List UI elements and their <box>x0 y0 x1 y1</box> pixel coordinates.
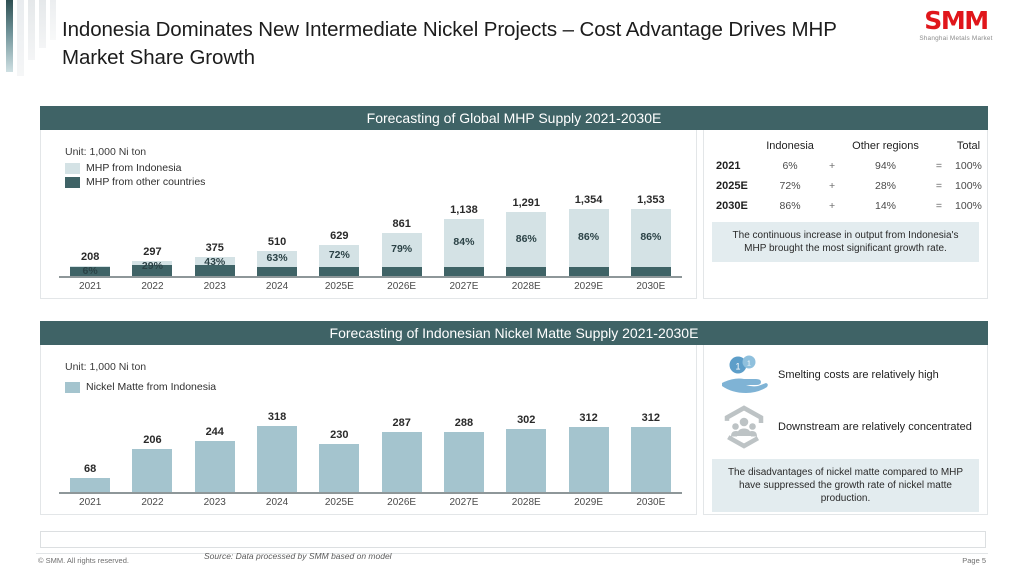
bar-column <box>558 204 620 292</box>
bar <box>132 449 172 492</box>
bar-column <box>121 419 183 508</box>
legend-label-indonesia: MHP from Indonesia <box>86 162 182 174</box>
cell-equals: = <box>928 156 950 176</box>
cell-plus: + <box>821 176 843 196</box>
bar-column <box>246 419 308 508</box>
bar-segment-base <box>506 267 546 276</box>
hexagon-people-icon <box>718 405 770 449</box>
bar-value-label: 1,353 <box>620 194 682 206</box>
svg-text:1: 1 <box>735 362 740 372</box>
bar-segment-base <box>382 432 422 492</box>
bar-column <box>308 204 370 292</box>
cell-indonesia: 86% <box>759 196 821 216</box>
bar-segment-base <box>382 267 422 276</box>
bar-value-label: 375 <box>184 242 246 254</box>
matte-note: The disadvantages of nickel matte compar… <box>712 459 979 512</box>
bar-segment-base <box>319 267 359 276</box>
bar <box>70 478 110 492</box>
cell-total: 100% <box>950 176 987 196</box>
bullet-downstream: Downstream are relatively concentrated <box>704 397 987 449</box>
bar-column <box>433 204 495 292</box>
bar-column <box>495 204 557 292</box>
logo-wordmark: SMM <box>904 8 1008 34</box>
bar-value-label: 287 <box>371 417 433 429</box>
bar-segment-base <box>257 426 297 492</box>
bar-value-label: 318 <box>246 411 308 423</box>
bar <box>506 429 546 492</box>
panel-matte-title: Forecasting of Indonesian Nickel Matte S… <box>40 321 988 345</box>
bar-value-label: 230 <box>308 429 370 441</box>
bar <box>319 444 359 492</box>
cell-other: 14% <box>843 196 928 216</box>
cell-other: 94% <box>843 156 928 176</box>
bar-segment-base <box>506 429 546 492</box>
legend-item-indonesia: MHP from Indonesia <box>65 162 205 174</box>
cell-other: 28% <box>843 176 928 196</box>
cell-plus: + <box>821 196 843 216</box>
bar-value-label: 312 <box>558 412 620 424</box>
bar-value-label: 1,138 <box>433 204 495 216</box>
page-title: Indonesia Dominates New Intermediate Nic… <box>62 16 862 72</box>
bar-segment-base <box>195 441 235 492</box>
col-head-total: Total <box>950 134 987 156</box>
bar-value-label: 302 <box>495 414 557 426</box>
bar-percent-label: 63% <box>257 252 297 264</box>
bar-segment-base <box>569 427 609 492</box>
chart-matte-unit: Unit: 1,000 Ni ton <box>65 361 146 373</box>
bar-value-label: 510 <box>246 236 308 248</box>
bar-segment-base <box>257 267 297 276</box>
cell-total: 100% <box>950 156 987 176</box>
bar-column <box>620 419 682 508</box>
chart-matte-plot-area: 2021682022206202324420243182025E2302026E… <box>59 403 682 508</box>
col-head-other: Other regions <box>843 134 928 156</box>
cell-total: 100% <box>950 196 987 216</box>
bar-segment-base <box>631 267 671 276</box>
panel-matte-supply: Forecasting of Indonesian Nickel Matte S… <box>40 321 988 517</box>
legend-swatch-indonesia <box>65 163 80 174</box>
bar-segment-base <box>444 432 484 492</box>
hand-coins-icon: 1 1 <box>718 353 770 397</box>
table-row: 20216%+94%=100% <box>704 156 987 176</box>
bar-percent-label: 6% <box>70 265 110 277</box>
bar <box>631 427 671 492</box>
bar-percent-label: 43% <box>195 256 235 268</box>
bar-percent-label: 72% <box>319 249 359 261</box>
table-header-row: Indonesia Other regions Total <box>704 134 987 156</box>
bar-segment-base <box>319 444 359 492</box>
deco-stripe-3 <box>28 0 35 60</box>
legend-label-other: MHP from other countries <box>86 176 205 188</box>
table-row: 2030E86%+14%=100% <box>704 196 987 216</box>
bullet-smelting-costs-text: Smelting costs are relatively high <box>778 368 939 382</box>
cell-plus: + <box>821 156 843 176</box>
bar-column <box>59 204 121 292</box>
footer-source: Source: Data processed by SMM based on m… <box>204 551 392 561</box>
deco-stripe-5 <box>50 0 56 40</box>
bar-column <box>246 204 308 292</box>
bar-value-label: 288 <box>433 417 495 429</box>
bar-segment-base <box>569 267 609 276</box>
mhp-note: The continuous increase in output from I… <box>712 222 979 262</box>
bar-value-label: 861 <box>371 218 433 230</box>
cell-equals: = <box>928 176 950 196</box>
bar-column <box>433 419 495 508</box>
bar-column <box>620 204 682 292</box>
panel-mhp-title: Forecasting of Global MHP Supply 2021-20… <box>40 106 988 130</box>
legend-swatch-matte <box>65 382 80 393</box>
chart-matte-supply: Unit: 1,000 Ni ton Nickel Matte from Ind… <box>40 345 697 515</box>
svg-text:1: 1 <box>747 361 751 368</box>
legend-item-matte: Nickel Matte from Indonesia <box>65 381 216 393</box>
chart-matte-legend: Nickel Matte from Indonesia <box>65 381 216 395</box>
table-row: 2025E72%+28%=100% <box>704 176 987 196</box>
mhp-share-table: Indonesia Other regions Total 20216%+94%… <box>704 134 987 216</box>
chart-mhp-supply: Unit: 1,000 Ni ton MHP from Indonesia MH… <box>40 130 697 299</box>
smm-logo: SMM Shanghai Metals Market <box>904 8 1008 42</box>
bar-value-label: 206 <box>121 434 183 446</box>
footer-copyright: © SMM. All rights reserved. <box>38 556 129 565</box>
row-year: 2030E <box>704 196 759 216</box>
footer-divider <box>36 553 988 554</box>
bar-percent-label: 86% <box>631 231 671 243</box>
cell-indonesia: 6% <box>759 156 821 176</box>
logo-subtitle: Shanghai Metals Market <box>904 35 1008 42</box>
footer-page-number: Page 5 <box>962 556 986 565</box>
bar <box>569 427 609 492</box>
legend-item-other: MHP from other countries <box>65 176 205 188</box>
matte-insights-panel: 1 1 Smelting costs are relatively high <box>703 345 988 515</box>
legend-label-matte: Nickel Matte from Indonesia <box>86 381 216 393</box>
bar-segment-base <box>70 478 110 492</box>
chart-mhp-legend: MHP from Indonesia MHP from other countr… <box>65 162 205 190</box>
row-year: 2021 <box>704 156 759 176</box>
bar <box>257 426 297 492</box>
bar <box>382 432 422 492</box>
bar-percent-label: 79% <box>382 243 422 255</box>
panel-mhp-supply: Forecasting of Global MHP Supply 2021-20… <box>40 106 988 301</box>
col-head-blank <box>704 134 759 156</box>
deco-stripe-2 <box>17 0 24 76</box>
mhp-share-table-body: 20216%+94%=100%2025E72%+28%=100%2030E86%… <box>704 156 987 216</box>
legend-swatch-other <box>65 177 80 188</box>
cell-equals: = <box>928 196 950 216</box>
cell-indonesia: 72% <box>759 176 821 196</box>
bar-value-label: 1,354 <box>558 194 620 206</box>
bar-segment-base <box>444 267 484 276</box>
bullet-smelting-costs: 1 1 Smelting costs are relatively high <box>704 345 987 397</box>
chart-mhp-unit: Unit: 1,000 Ni ton <box>65 146 146 158</box>
bullet-downstream-text: Downstream are relatively concentrated <box>778 420 972 434</box>
bar-percent-label: 84% <box>444 236 484 248</box>
bar-percent-label: 29% <box>132 260 172 272</box>
bar-value-label: 629 <box>308 230 370 242</box>
bar-column <box>495 419 557 508</box>
col-head-indonesia: Indonesia <box>759 134 821 156</box>
col-head-op1 <box>821 134 843 156</box>
col-head-op2 <box>928 134 950 156</box>
chart-mhp-plot-area: 20212086%202229729%202337543%202451063%2… <box>59 188 682 292</box>
bar-value-label: 1,291 <box>495 197 557 209</box>
bar-column <box>371 419 433 508</box>
bar-segment-base <box>132 449 172 492</box>
corner-decoration <box>0 0 56 80</box>
mhp-share-panel: Indonesia Other regions Total 20216%+94%… <box>703 130 988 299</box>
bar-percent-label: 86% <box>506 233 546 245</box>
bar <box>444 432 484 492</box>
deco-stripe-4 <box>39 0 46 48</box>
bar-value-label: 312 <box>620 412 682 424</box>
bar-value-label: 68 <box>59 463 121 475</box>
bar-value-label: 297 <box>121 246 183 258</box>
deco-stripe-1 <box>6 0 13 72</box>
bar <box>195 441 235 492</box>
bar-value-label: 244 <box>184 426 246 438</box>
bar-percent-label: 86% <box>569 231 609 243</box>
bottom-empty-box <box>40 531 986 548</box>
bar-value-label: 208 <box>59 251 121 263</box>
bar-segment-base <box>631 427 671 492</box>
row-year: 2025E <box>704 176 759 196</box>
bar-column <box>558 419 620 508</box>
